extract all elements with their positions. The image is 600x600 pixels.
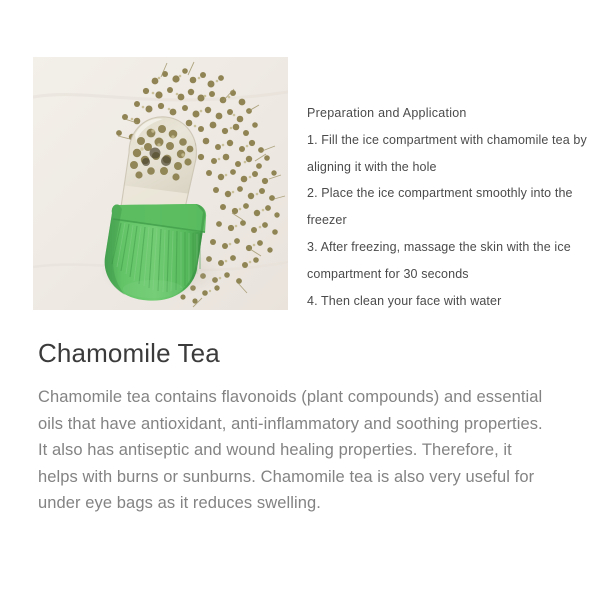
instruction-step-1: 1. Fill the ice compartment with chamomi… (307, 127, 587, 181)
instructions-block: Preparation and Application 1. Fill the … (307, 100, 587, 314)
product-photo (33, 57, 288, 310)
page-title: Chamomile Tea (38, 336, 558, 370)
instruction-step-3: 3. After freezing, massage the skin with… (307, 234, 587, 288)
article-section: Chamomile Tea Chamomile tea contains fla… (38, 336, 558, 517)
product-info-page: Preparation and Application 1. Fill the … (0, 0, 600, 600)
chamomile-ice-roller-illustration (33, 57, 288, 310)
instruction-step-2: 2. Place the ice compartment smoothly in… (307, 180, 587, 234)
top-section: Preparation and Application 1. Fill the … (0, 0, 600, 320)
instruction-step-4: 4. Then clean your face with water (307, 288, 587, 315)
article-body-text: Chamomile tea contains flavonoids (plant… (38, 384, 543, 517)
instructions-heading: Preparation and Application (307, 100, 587, 127)
